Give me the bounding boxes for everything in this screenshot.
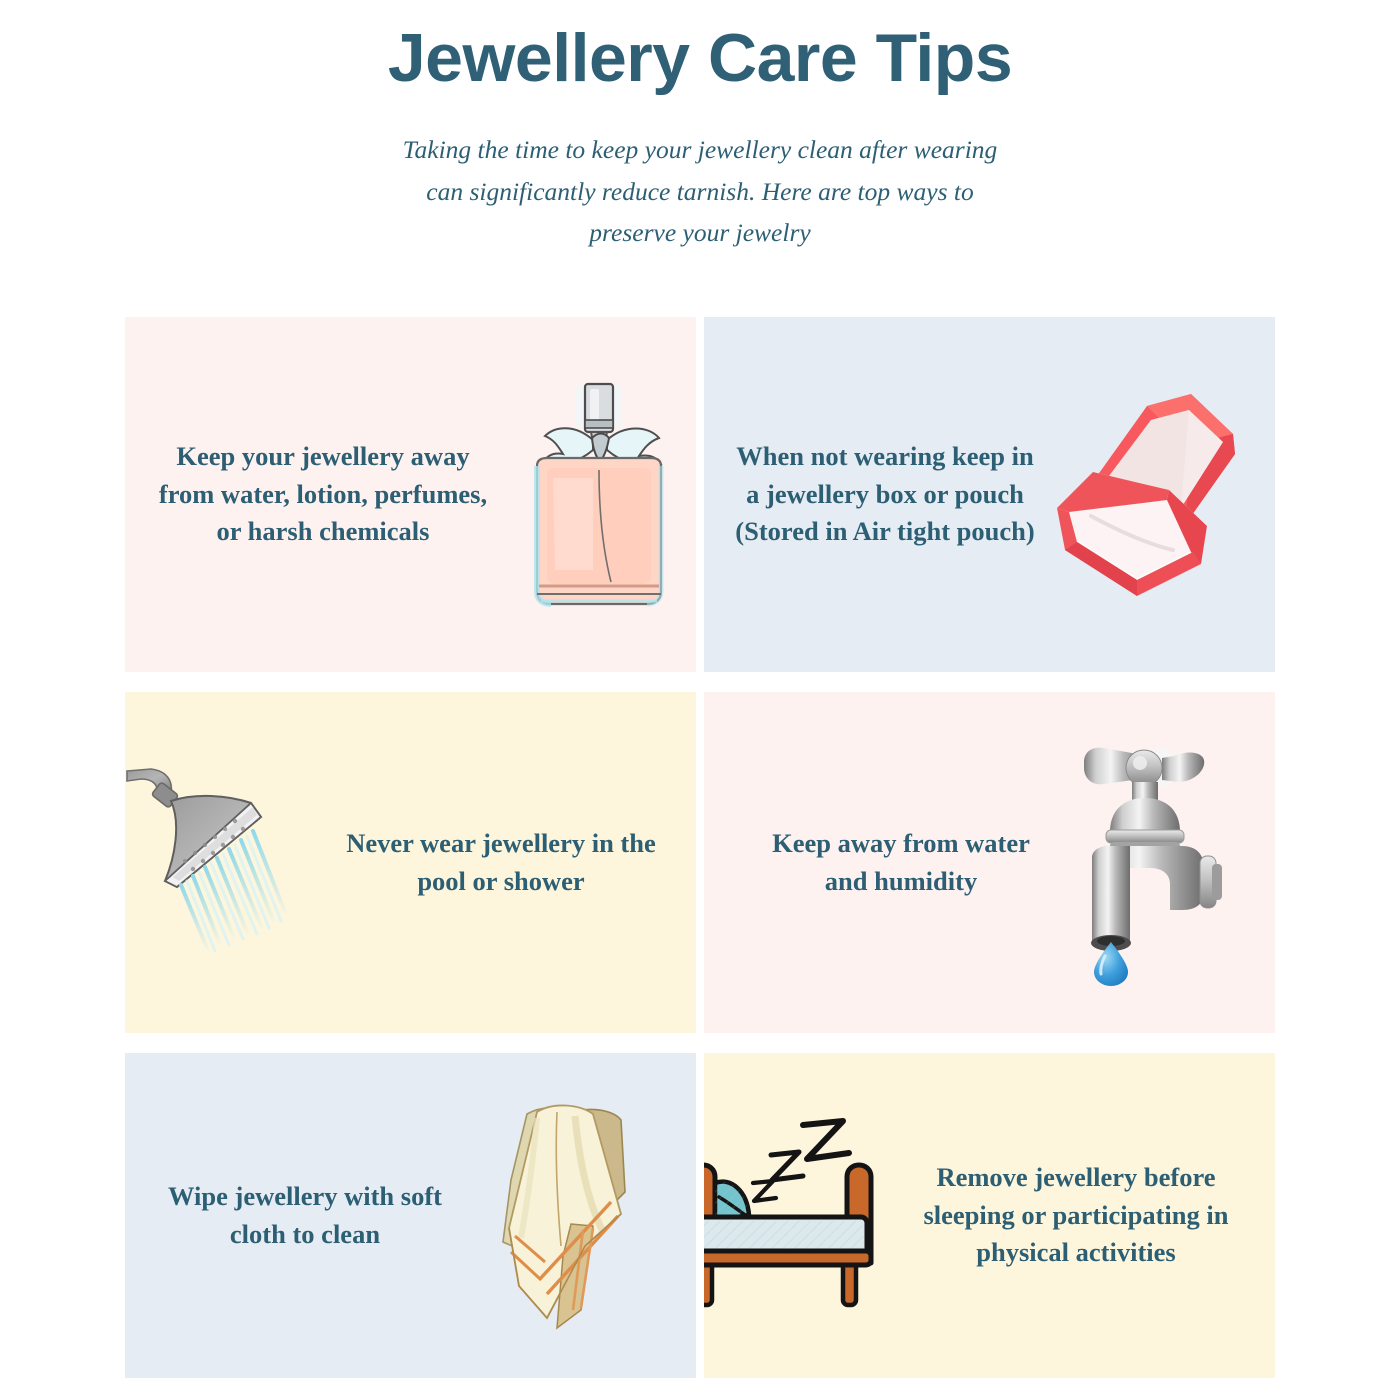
page-subtitle: Taking the time to keep your jewellery c… [390, 95, 1010, 253]
tip-card-3: Never wear jewellery in the pool or show… [125, 692, 696, 1033]
page-title: Jewellery Care Tips [0, 0, 1400, 95]
tip-card-6: Remove jewellery before sleeping or part… [704, 1053, 1275, 1378]
tip-text-3: Never wear jewellery in the pool or show… [336, 825, 666, 900]
shower-head-icon [125, 692, 336, 1033]
tip-text-4: Keep away from water and humidity [746, 825, 1056, 900]
tip-text-5: Wipe jewellery with soft cloth to clean [135, 1178, 475, 1253]
tip-card-5: Wipe jewellery with soft cloth to clean [125, 1053, 696, 1378]
tip-card-4: Keep away from water and humidity [704, 692, 1275, 1033]
soft-cloth-icon [475, 1053, 660, 1378]
tip-text-2: When not wearing keep in a jewellery box… [720, 438, 1050, 551]
bed-sleeping-icon [704, 1053, 911, 1378]
tip-card-2: When not wearing keep in a jewellery box… [704, 317, 1275, 672]
ring-box-icon [1050, 317, 1267, 672]
jewellery-care-infographic: Jewellery Care Tips Taking the time to k… [0, 0, 1400, 1400]
perfume-bottle-icon [503, 317, 693, 672]
tips-grid: Keep your jewellery away from water, lot… [125, 317, 1275, 1378]
tip-card-1: Keep your jewellery away from water, lot… [125, 317, 696, 672]
header: Jewellery Care Tips Taking the time to k… [0, 0, 1400, 253]
tip-text-1: Keep your jewellery away from water, lot… [143, 438, 503, 551]
tip-text-6: Remove jewellery before sleeping or part… [911, 1159, 1241, 1272]
faucet-dripping-icon [1056, 692, 1253, 1033]
